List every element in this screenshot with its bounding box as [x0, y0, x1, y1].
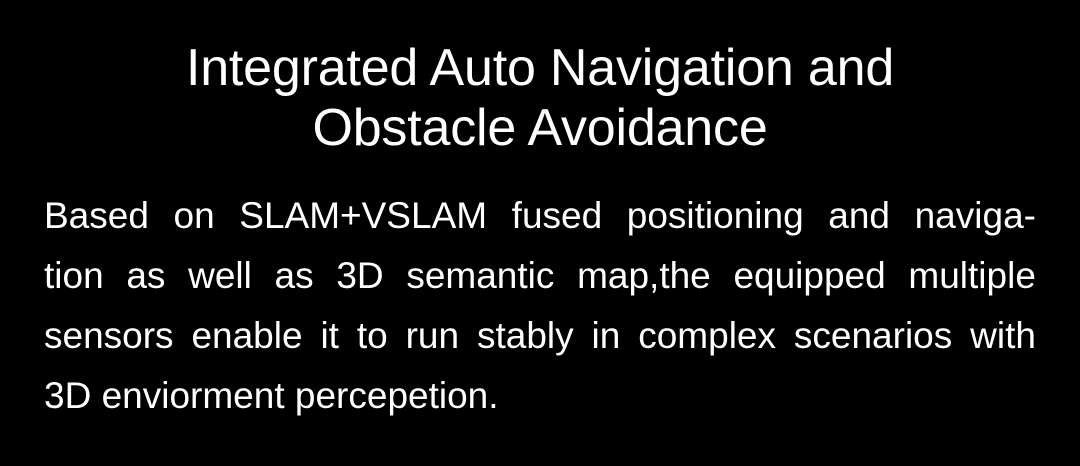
- body-word: and: [828, 186, 890, 246]
- body-word: Based: [44, 186, 149, 246]
- page-title-line-1: Integrated Auto Navigation and: [0, 38, 1080, 98]
- body-word: with: [970, 306, 1036, 366]
- body-line-4: 3D enviorment percepetion.: [44, 366, 1036, 426]
- body-line-3: sensorsenableittorunstablyincomplexscena…: [44, 306, 1036, 366]
- body-word: SLAM+VSLAM: [239, 186, 487, 246]
- body-word: to: [357, 306, 388, 366]
- body-word: in: [592, 306, 621, 366]
- body-word: run: [406, 306, 459, 366]
- body-word: scenarios: [794, 306, 952, 366]
- body-word: equipped: [733, 246, 885, 306]
- body-word: tion: [44, 246, 104, 306]
- body-line-1: BasedonSLAM+VSLAMfusedpositioningandnavi…: [44, 186, 1036, 246]
- body-word: well: [188, 246, 252, 306]
- body-word: naviga-: [915, 186, 1036, 246]
- body-word: multiple: [908, 246, 1036, 306]
- body-paragraph: BasedonSLAM+VSLAMfusedpositioningandnavi…: [44, 186, 1036, 426]
- body-word: 3D: [336, 246, 383, 306]
- page-title-line-2: Obstacle Avoidance: [0, 98, 1080, 158]
- body-word: semantic: [406, 246, 554, 306]
- body-word: on: [174, 186, 215, 246]
- body-word: it: [320, 306, 339, 366]
- body-line-2: tionaswellas3Dsemanticmap,theequippedmul…: [44, 246, 1036, 306]
- body-word: map,the: [577, 246, 711, 306]
- page-title: Integrated Auto Navigation and Obstacle …: [0, 38, 1080, 158]
- body-word: enable: [191, 306, 302, 366]
- body-word: as: [275, 246, 314, 306]
- body-word: stably: [477, 306, 574, 366]
- body-word: complex: [638, 306, 776, 366]
- body-word: fused: [512, 186, 603, 246]
- slide-root: Integrated Auto Navigation and Obstacle …: [0, 0, 1080, 466]
- body-word: sensors: [44, 306, 174, 366]
- body-word: as: [126, 246, 165, 306]
- body-word: positioning: [627, 186, 804, 246]
